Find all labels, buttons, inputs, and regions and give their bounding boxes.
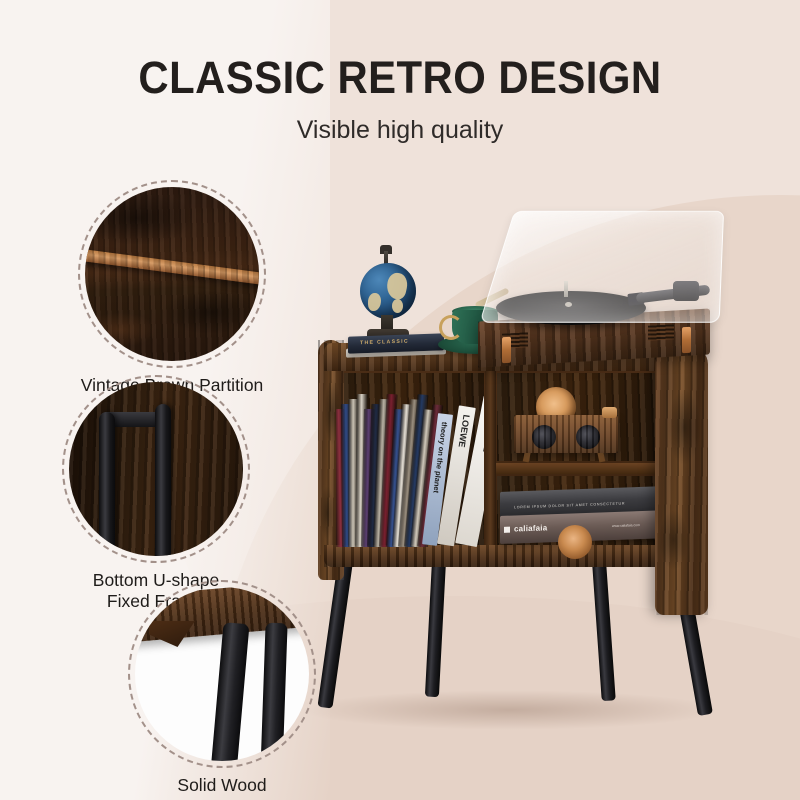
shelf-content-bluetooth-speaker (506, 391, 626, 463)
u-frame-bar-right (155, 404, 171, 556)
mug-handle (439, 315, 463, 340)
magazine-title: LOEWE (457, 414, 472, 448)
callout-circle-1 (78, 180, 266, 368)
cabinet-vertical-divider (485, 371, 496, 551)
globe-landmass-1 (385, 271, 410, 301)
cabinet-side-panel-right (655, 347, 708, 615)
product-record-player-stand: theory on the planetLOEWEL'ECUYE LOREM I… (300, 195, 770, 715)
dust-cover-hinge-left (502, 337, 511, 363)
support-leg-detail-2 (260, 623, 287, 761)
globe-landmass-3 (392, 299, 403, 313)
page-title: CLASSIC RETRO DESIGN (28, 54, 772, 102)
book-spine-text: THE CLASSIC (360, 339, 409, 347)
cabinet-middle-shelf (496, 463, 676, 474)
page-subtitle: Visible high quality (0, 116, 800, 145)
speaker-cabinet (514, 415, 618, 453)
product-banner: CLASSIC RETRO DESIGN Visible high qualit… (0, 0, 800, 800)
copper-horn-accent (558, 525, 592, 559)
turntable-dust-cover (479, 211, 724, 323)
heading-block: CLASSIC RETRO DESIGN Visible high qualit… (0, 54, 800, 145)
storage-box-url: www.caliafaia.com (612, 523, 640, 528)
turntable-vent-right (648, 324, 674, 340)
callout-label-3: Solid Wood Support Feet (128, 775, 316, 800)
globe-landmass-2 (368, 293, 381, 311)
magazine-title: L'ECUYE (480, 405, 484, 454)
globe-sphere (360, 263, 416, 319)
callout-circle-3 (128, 580, 316, 768)
speaker-volume-knob (602, 407, 617, 418)
storage-box-top-text: LOREM IPSUM DOLOR SIT AMET CONSECTETUR (514, 502, 625, 510)
wood-grain-overlay (85, 187, 259, 361)
shelf-content-vinyl-records: theory on the planetLOEWEL'ECUYE (336, 379, 484, 547)
callout-image-u-frame (69, 382, 243, 556)
dust-cover-hinge-right (682, 327, 691, 353)
callout-image-partition (85, 187, 259, 361)
u-frame-bar-left (99, 412, 115, 556)
product-leg-back-right (592, 561, 616, 702)
callout-image-legs (135, 587, 309, 761)
product-leg-front-left (317, 560, 352, 709)
callout-solid-wood-support-feet: Solid Wood Support Feet (128, 580, 316, 800)
decor-book-the-classic: THE CLASSIC (348, 333, 444, 353)
callout-bottom-u-shape-fixed-frame: Bottom U-shape Fixed Frame (62, 375, 250, 613)
product-turntable (468, 253, 723, 365)
speaker-driver-left (532, 425, 556, 449)
callout-circle-2 (62, 375, 250, 563)
product-leg-back-left (425, 561, 446, 698)
speaker-driver-right (576, 425, 600, 449)
callout-vintage-brown-partition: Vintage Brown Partition (78, 180, 266, 396)
storage-box-brand: caliafaia (514, 523, 547, 533)
